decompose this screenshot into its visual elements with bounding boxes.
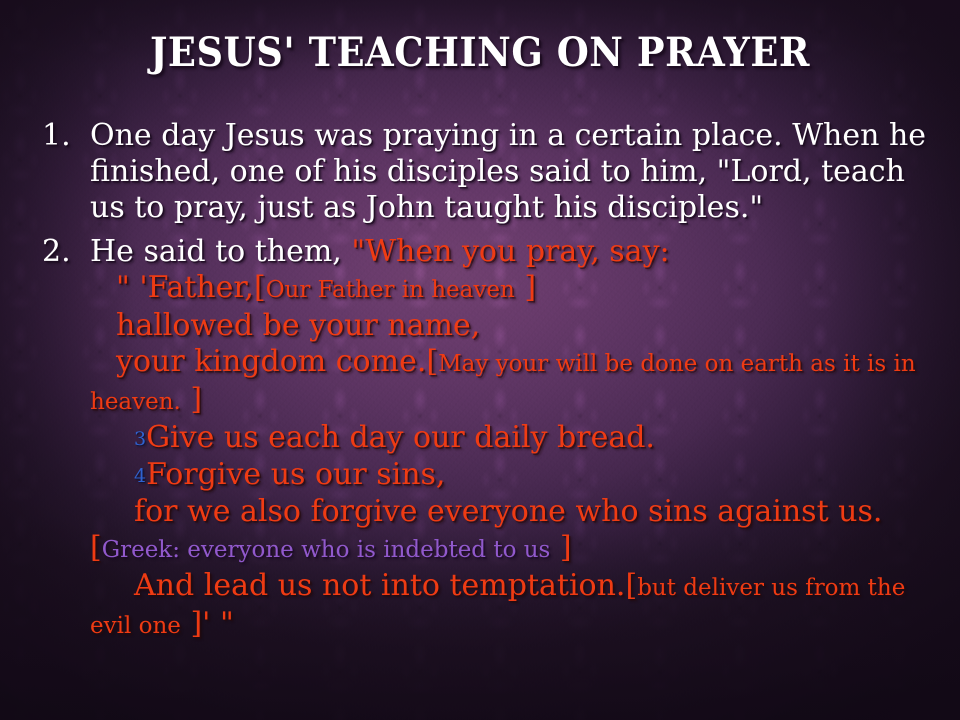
slide-title: JESUS' TEACHING ON PRAYER xyxy=(38,30,921,76)
scripture-line-2: hallowed be your name, xyxy=(90,308,928,344)
scripture-line-7: And lead us not into temptation.[but del… xyxy=(90,568,928,644)
scripture-line-1-text: " 'Father, xyxy=(116,270,254,305)
bracket-open-1: [ xyxy=(254,270,266,305)
bracket-close-3: ] xyxy=(190,382,202,417)
slide-body: 1. One day Jesus was praying in a certai… xyxy=(38,118,928,644)
scripture-line-2-text: hallowed be your name, xyxy=(116,308,480,343)
greek-gloss: Greek: everyone who is indebted to us xyxy=(102,537,551,563)
verse-number-4: 4 xyxy=(134,465,146,487)
list-item-2: 2. He said to them, "When you pray, say:… xyxy=(38,234,928,644)
scripture-line-1: " 'Father,[Our Father in heaven ] xyxy=(90,270,928,308)
bracket-open-6: [ xyxy=(90,530,102,565)
scripture-line-3-text: your kingdom come. xyxy=(116,344,426,379)
bracket-close-6: ] xyxy=(560,530,572,565)
scripture-closing-quotes: ' " xyxy=(202,606,234,641)
scripture-line-5: 4Forgive us our sins, xyxy=(90,457,928,494)
scripture-line-4: 3Give us each day our daily bread. xyxy=(90,420,928,457)
scripture-line-5-text: Forgive us our sins, xyxy=(146,457,445,492)
scripture-line-7-text: And lead us not into temptation. xyxy=(134,568,625,603)
scripture-note-1: Our Father in heaven xyxy=(266,277,515,303)
list-item-1: 1. One day Jesus was praying in a certai… xyxy=(38,118,928,226)
bracket-close-7: ] xyxy=(190,606,202,641)
bracket-open-3: [ xyxy=(426,344,438,379)
slide-canvas: JESUS' TEACHING ON PRAYER 1. One day Jes… xyxy=(0,0,960,720)
item2-lead-white: He said to them, xyxy=(90,234,342,269)
list-marker-2: 2. xyxy=(42,234,88,270)
verse-number-3: 3 xyxy=(134,428,146,450)
scripture-line-3: your kingdom come.[May your will be done… xyxy=(90,344,928,420)
slide-content: JESUS' TEACHING ON PRAYER 1. One day Jes… xyxy=(0,0,960,720)
scripture-line-6-text: for we also forgive everyone who sins ag… xyxy=(134,494,882,529)
list-marker-1: 1. xyxy=(42,118,88,154)
scripture-line-4-text: Give us each day our daily bread. xyxy=(146,420,655,455)
scripture-line-6: for we also forgive everyone who sins ag… xyxy=(90,494,928,568)
bracket-open-7: [ xyxy=(625,568,637,603)
list-item-2-text: He said to them, "When you pray, say: " … xyxy=(38,234,928,644)
list-item-1-text: One day Jesus was praying in a certain p… xyxy=(38,118,928,226)
item2-lead-red: "When you pray, say: xyxy=(351,234,669,269)
bracket-close-1: ] xyxy=(524,270,536,305)
